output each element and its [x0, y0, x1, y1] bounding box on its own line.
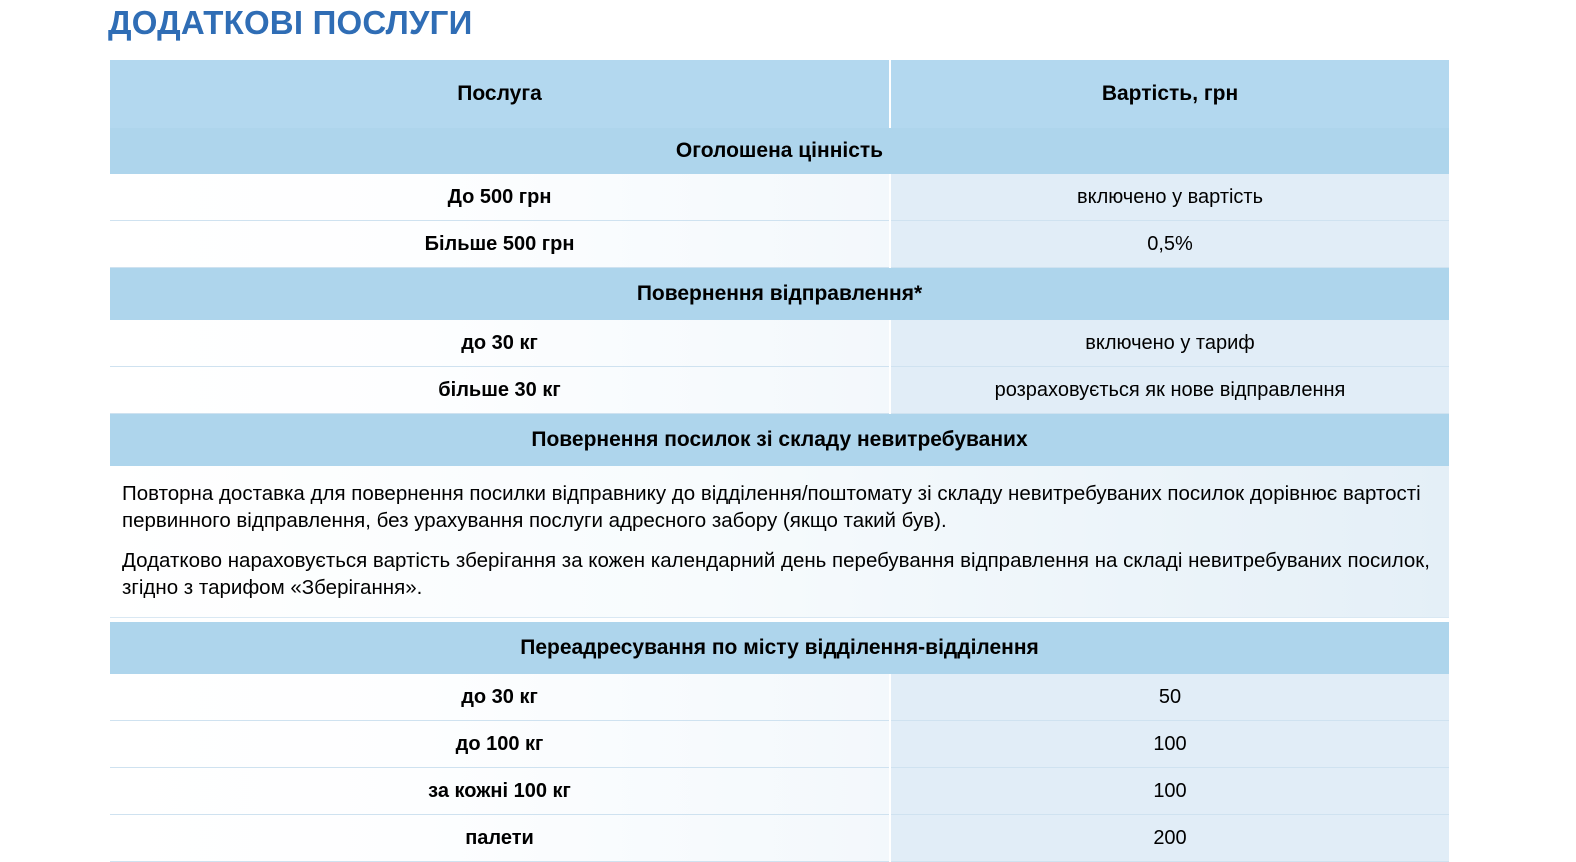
- column-header-price: Вартість, грн: [890, 60, 1449, 128]
- cell-price: 50: [890, 674, 1449, 721]
- table-row: до 30 кг 50: [110, 674, 1449, 721]
- section-header-row: Повернення посилок зі складу невитребува…: [110, 414, 1449, 467]
- cell-price: 100: [890, 768, 1449, 815]
- table-row: до 100 кг 100: [110, 721, 1449, 768]
- cell-service: до 30 кг: [110, 674, 890, 721]
- note-block: Повторна доставка для повернення посилки…: [110, 466, 1449, 618]
- note-paragraph: Додатково нараховується вартість зберіга…: [122, 547, 1433, 601]
- section-title-declared-value: Оголошена цінність: [110, 128, 1449, 174]
- cell-price: розраховується як нове відправлення: [890, 367, 1449, 414]
- table-row: за кожні 100 кг 100: [110, 768, 1449, 815]
- section-header-row: Повернення відправлення*: [110, 268, 1449, 321]
- table-row: палети 200: [110, 815, 1449, 862]
- section-note-row: Повторна доставка для повернення посилки…: [110, 466, 1449, 618]
- section-header-row: Оголошена цінність: [110, 128, 1449, 174]
- column-header-service: Послуга: [110, 60, 890, 128]
- cell-service: До 500 грн: [110, 174, 890, 221]
- table-row: Більше 500 грн 0,5%: [110, 221, 1449, 268]
- table-header-row: Послуга Вартість, грн: [110, 60, 1449, 128]
- page-title: ДОДАТКОВІ ПОСЛУГИ: [108, 2, 472, 44]
- cell-price: включено у тариф: [890, 320, 1449, 367]
- cell-service: палети: [110, 815, 890, 862]
- table-body: Оголошена цінність До 500 грн включено у…: [110, 128, 1449, 862]
- additional-services-table: Послуга Вартість, грн Оголошена цінність…: [110, 60, 1449, 862]
- section-header-row: Переадресування по місту відділення-відд…: [110, 622, 1449, 674]
- cell-price: 200: [890, 815, 1449, 862]
- table-row: більше 30 кг розраховується як нове відп…: [110, 367, 1449, 414]
- table-row: До 500 грн включено у вартість: [110, 174, 1449, 221]
- cell-price: 100: [890, 721, 1449, 768]
- cell-service: до 100 кг: [110, 721, 890, 768]
- cell-service: до 30 кг: [110, 320, 890, 367]
- cell-service: за кожні 100 кг: [110, 768, 890, 815]
- cell-price: включено у вартість: [890, 174, 1449, 221]
- section-title-city-redirect: Переадресування по місту відділення-відд…: [110, 622, 1449, 674]
- cell-service: більше 30 кг: [110, 367, 890, 414]
- cell-price: 0,5%: [890, 221, 1449, 268]
- cell-service: Більше 500 грн: [110, 221, 890, 268]
- section-title-unclaimed-warehouse-return: Повернення посилок зі складу невитребува…: [110, 414, 1449, 467]
- tariff-page: ДОДАТКОВІ ПОСЛУГИ Послуга Вартість, грн …: [0, 0, 1576, 862]
- table-row: до 30 кг включено у тариф: [110, 320, 1449, 367]
- section-title-shipment-return: Повернення відправлення*: [110, 268, 1449, 321]
- note-paragraph: Повторна доставка для повернення посилки…: [122, 480, 1433, 534]
